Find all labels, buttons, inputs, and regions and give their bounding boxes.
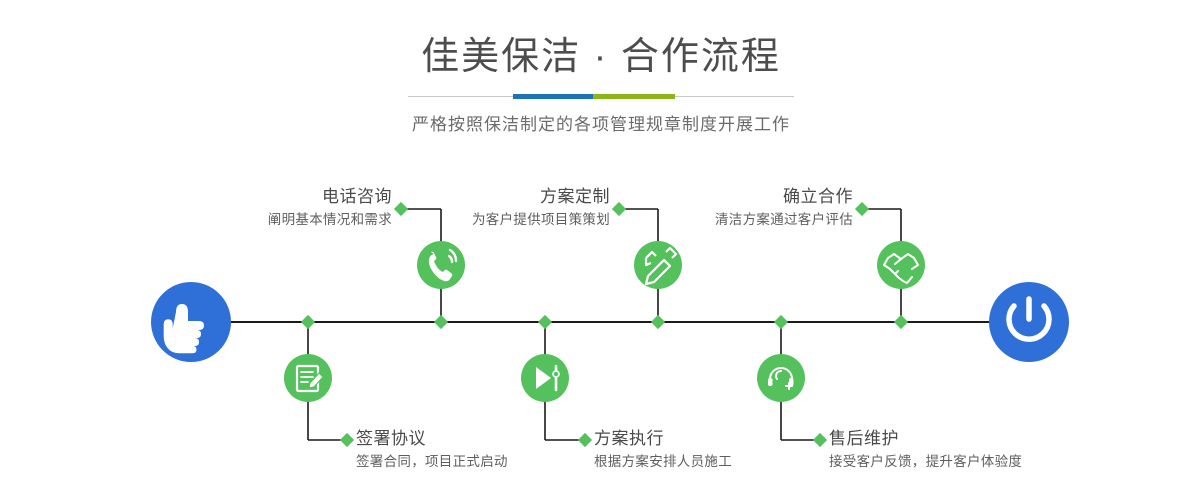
step-icon-node-4[interactable] xyxy=(521,354,569,402)
process-flow-diagram: 电话咨询 阐明基本情况和需求 方案定制 为客户提供项目策策划 确立合作 清洁方案… xyxy=(0,0,1202,502)
axis-diamond-1 xyxy=(301,315,315,329)
axis-diamond-6 xyxy=(894,315,908,329)
step-6-desc: 接受客户反馈，提升客户体验度 xyxy=(829,450,1159,472)
step-2-circle xyxy=(284,354,332,402)
step-label-5: 确立合作 清洁方案通过客户评估 xyxy=(560,186,853,230)
step-1-circle xyxy=(417,241,465,289)
step-6-circle xyxy=(757,354,805,402)
step-label-6: 售后维护 接受客户反馈，提升客户体验度 xyxy=(829,428,1159,472)
step-icon-node-5[interactable] xyxy=(877,241,925,289)
end-node-circle xyxy=(989,282,1069,362)
flow-start-node[interactable] xyxy=(151,282,231,362)
axis-diamond-5 xyxy=(774,315,788,329)
step-5-desc: 清洁方案通过客户评估 xyxy=(560,208,853,230)
flow-end-node[interactable] xyxy=(989,282,1069,362)
step-6-title: 售后维护 xyxy=(829,428,1159,450)
axis-diamond-4 xyxy=(651,315,665,329)
flow-canvas xyxy=(0,0,1202,502)
step-icon-node-6[interactable] xyxy=(757,354,805,402)
step-5-title: 确立合作 xyxy=(560,186,853,208)
step-icon-node-3[interactable] xyxy=(634,241,682,289)
connector-diamond-step-2 xyxy=(340,433,354,447)
axis-diamond-2 xyxy=(434,315,448,329)
step-icon-node-2[interactable] xyxy=(284,354,332,402)
connector-diamond-step-5 xyxy=(855,202,869,216)
step-icon-node-1[interactable] xyxy=(417,241,465,289)
axis-diamond-3 xyxy=(538,315,552,329)
